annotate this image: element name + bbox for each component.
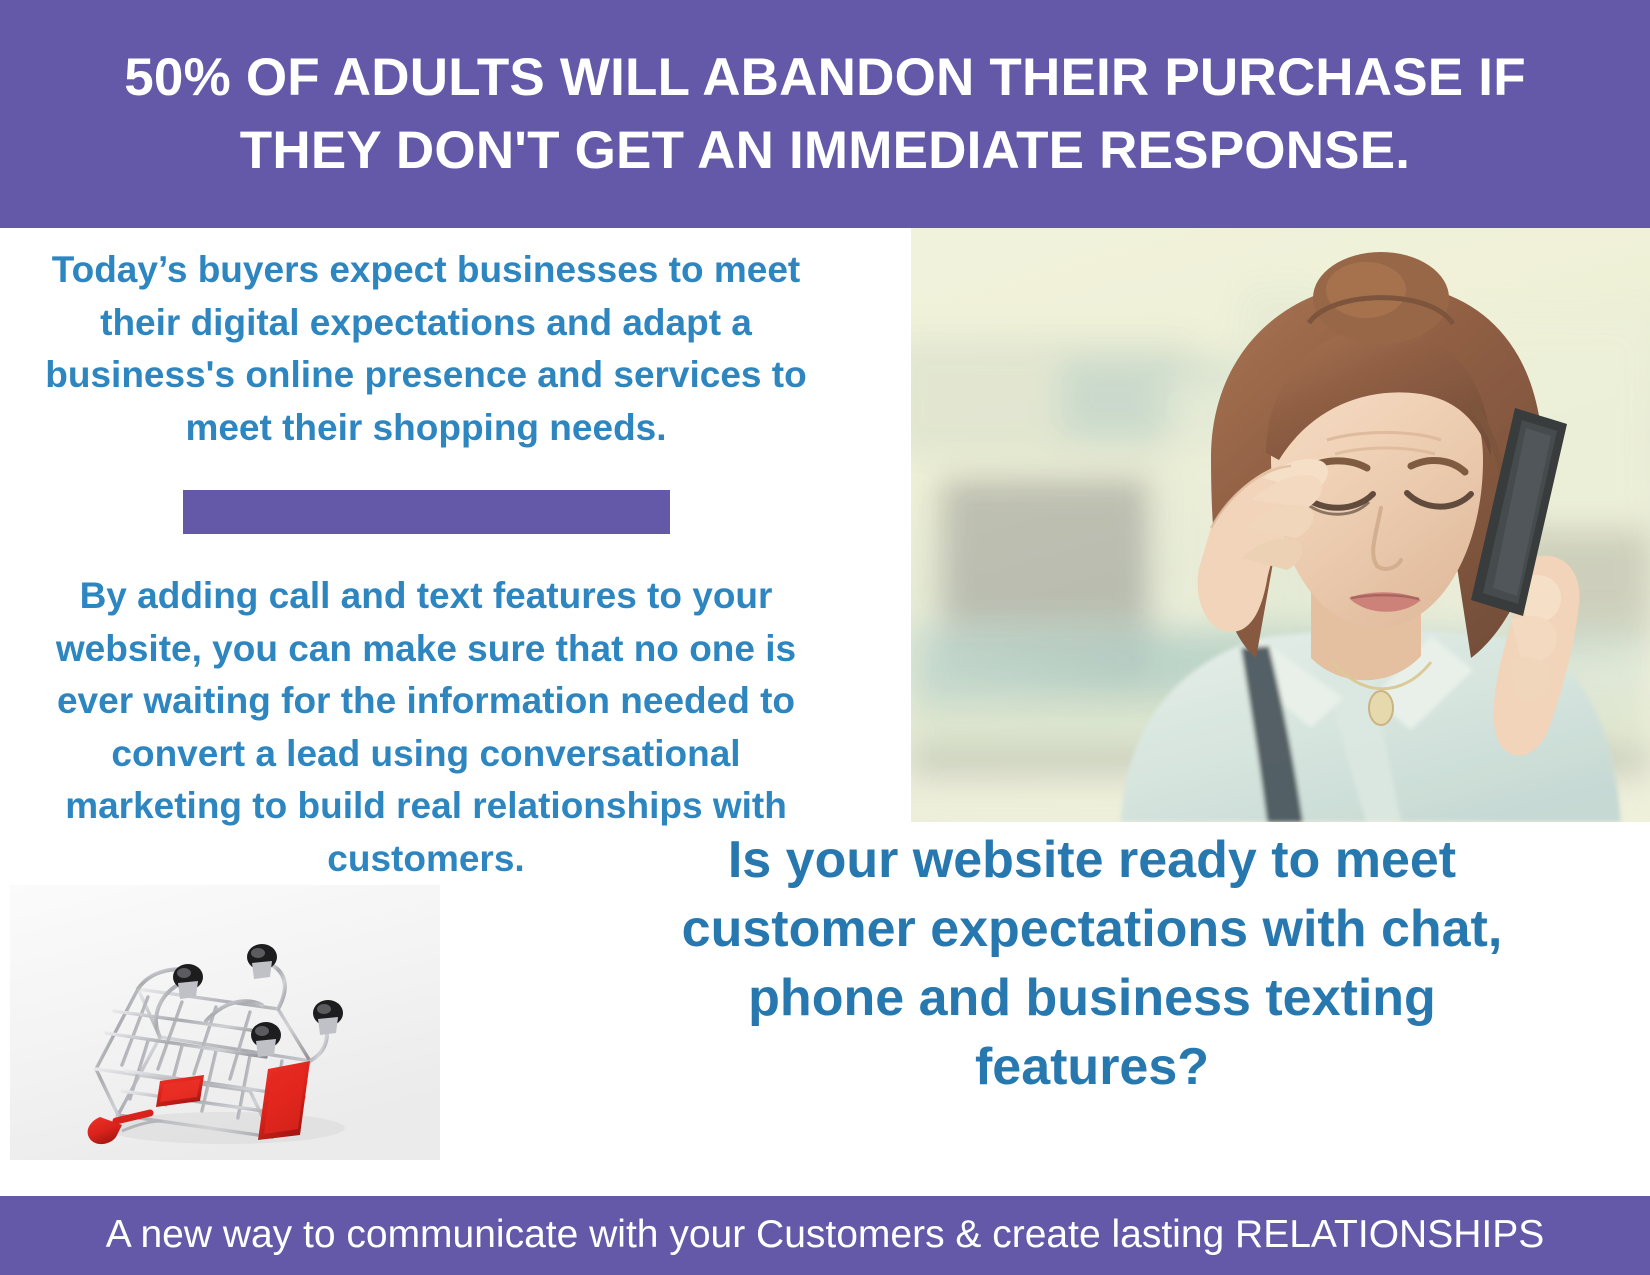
abandoned-cart-photo bbox=[10, 885, 440, 1160]
header-banner: 50% of adults will abandon their purchas… bbox=[0, 0, 1650, 228]
call-to-action-question: Is your website ready to meet customer e… bbox=[636, 826, 1548, 1103]
stressed-woman-illustration bbox=[911, 228, 1650, 822]
page-title: 50% of adults will abandon their purchas… bbox=[70, 41, 1580, 187]
left-text-column: Today’s buyers expect businesses to meet… bbox=[26, 244, 826, 885]
footer-banner: A new way to communicate with your Custo… bbox=[0, 1196, 1650, 1275]
intro-paragraph: Today’s buyers expect businesses to meet… bbox=[26, 244, 826, 454]
stressed-woman-photo bbox=[911, 228, 1650, 822]
footer-tagline: A new way to communicate with your Custo… bbox=[106, 1214, 1545, 1257]
shopping-cart-illustration bbox=[10, 885, 440, 1160]
purple-divider-bar bbox=[183, 490, 670, 534]
question-block: Is your website ready to meet customer e… bbox=[636, 826, 1548, 1103]
